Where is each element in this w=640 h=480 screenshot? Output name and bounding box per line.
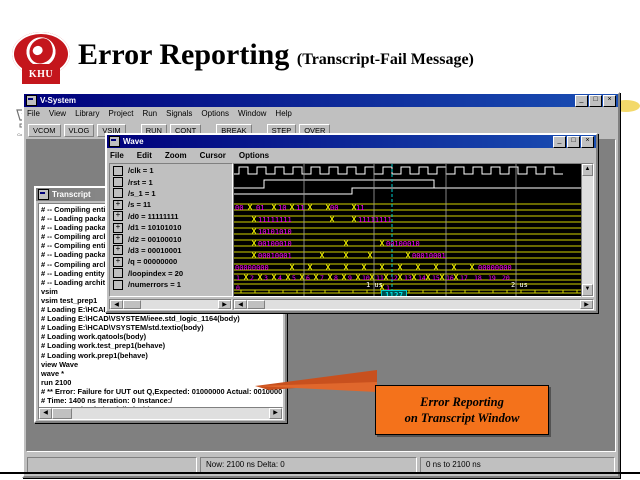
signal-pane-hscrollbar[interactable]: ◀ ▶ <box>109 299 232 310</box>
page-title: Error Reporting (Transcript-Fail Message… <box>78 38 474 72</box>
wave-maximize-button[interactable]: □ <box>567 136 580 148</box>
menu-help[interactable]: Help <box>275 109 291 118</box>
svg-text:01: 01 <box>256 204 264 212</box>
scroll-thumb[interactable] <box>52 408 72 419</box>
menu-file[interactable]: File <box>27 109 40 118</box>
transcript-line: wave * <box>41 369 280 378</box>
svg-text:14: 14 <box>418 274 426 282</box>
wave-content: /clk = 1 /rst = 1 /s_1 = 1 /s = 11 /d0 =… <box>109 163 594 297</box>
signal-label: /d2 = 00100010 <box>128 235 181 244</box>
signal-scroll-track[interactable] <box>141 300 218 309</box>
svg-text:9: 9 <box>348 274 352 282</box>
svg-text:00010001: 00010001 <box>258 252 292 260</box>
svg-text:00: 00 <box>330 204 338 212</box>
time-tick-1: 1 us <box>366 281 383 289</box>
wave-scroll-thumb[interactable] <box>247 300 265 309</box>
wave-menu-options[interactable]: Options <box>239 151 269 160</box>
slide-header: KHU Error Reporting (Transcript-Fail Mes… <box>0 30 640 92</box>
svg-text:00100010: 00100010 <box>258 240 292 248</box>
wave-hscrollbars: ◀ ▶ ◀ ▶ <box>109 299 594 310</box>
transcript-line: # Loading E:\HCAD\VSYSTEM/std.textio(bod… <box>41 323 280 332</box>
svg-text:18: 18 <box>474 274 482 282</box>
signal-label: /s_1 = 1 <box>128 189 156 198</box>
svg-text:12: 12 <box>390 274 398 282</box>
menu-view[interactable]: View <box>49 109 66 118</box>
wave-scroll-track[interactable] <box>265 300 580 309</box>
signal-row[interactable]: /d3 = 00010001 <box>110 245 232 256</box>
expand-checkbox-icon[interactable] <box>113 280 123 290</box>
signal-label: /loopindex = 20 <box>128 269 183 278</box>
wave-window: Wave _ □ × File Edit Zoom Cursor Options… <box>105 133 598 313</box>
expand-plus-icon[interactable] <box>113 257 123 267</box>
close-button[interactable]: × <box>603 95 616 107</box>
svg-text:5: 5 <box>292 274 296 282</box>
svg-text:1: 1 <box>236 274 240 282</box>
vsystem-statusbar: Now: 2100 ns Delta: 0 0 ns to 2100 ns <box>27 457 615 473</box>
menu-run[interactable]: Run <box>142 109 157 118</box>
signal-label: /d0 = 11111111 <box>128 212 178 221</box>
maximize-button[interactable]: □ <box>589 95 602 107</box>
callout-arrow-icon <box>255 364 385 404</box>
wave-vscrollbar[interactable]: ▲ ▼ <box>581 163 594 297</box>
signal-label: /s = 11 <box>128 200 151 209</box>
waveform-pane[interactable]: 00 01 10 11 00 11 11111111 11111111 <box>233 163 594 297</box>
waveform-canvas: 00 01 10 11 00 11 11111111 11111111 <box>234 164 586 296</box>
menu-options[interactable]: Options <box>201 109 229 118</box>
signal-row[interactable]: /s = 11 <box>110 199 232 210</box>
minimize-button[interactable]: _ <box>575 95 588 107</box>
signal-label: /q = 00000000 <box>128 257 177 266</box>
wave-scroll-left-icon[interactable]: ◀ <box>234 300 247 309</box>
menu-window[interactable]: Window <box>238 109 266 118</box>
signal-row[interactable]: /numerrors = 1 <box>110 279 232 290</box>
scroll-left-arrow-icon[interactable]: ◀ <box>39 408 52 419</box>
wave-menu-edit[interactable]: Edit <box>137 151 152 160</box>
scroll-up-arrow-icon[interactable]: ▲ <box>582 164 593 176</box>
transcript-line: # Loading work.prep1(behave) <box>41 351 280 360</box>
slide-bottom-rule <box>0 472 640 474</box>
wave-menu-file[interactable]: File <box>110 151 124 160</box>
signal-row[interactable]: /rst = 1 <box>110 176 232 187</box>
logo-text: KHU <box>29 69 53 80</box>
transcript-icon <box>38 189 49 200</box>
svg-text:19: 19 <box>488 274 496 282</box>
wave-close-button[interactable]: × <box>581 136 594 148</box>
scroll-right-arrow-icon[interactable]: ▶ <box>269 408 282 419</box>
signal-label: /d1 = 10101010 <box>128 223 181 232</box>
signal-row[interactable]: /s_1 = 1 <box>110 188 232 199</box>
callout-box: Error Reporting on Transcript Window <box>375 385 549 435</box>
svg-text:8: 8 <box>334 274 338 282</box>
wave-title: Wave <box>123 137 553 146</box>
svg-text:11111111: 11111111 <box>358 216 392 224</box>
signal-scroll-thumb[interactable] <box>123 300 141 309</box>
vsystem-title: V-System <box>40 96 575 105</box>
svg-text:00000000: 00000000 <box>478 264 512 272</box>
wave-pane-hscrollbar[interactable]: ◀ ▶ <box>233 299 594 310</box>
expand-checkbox-icon[interactable] <box>113 268 123 278</box>
transcript-line: view Wave <box>41 360 280 369</box>
svg-text:15: 15 <box>432 274 440 282</box>
signal-label: /clk = 1 <box>128 166 154 175</box>
svg-text:00: 00 <box>235 204 243 212</box>
wave-menubar: File Edit Zoom Cursor Options <box>107 148 596 163</box>
signal-label: /rst = 1 <box>128 178 153 187</box>
menu-library[interactable]: Library <box>75 109 99 118</box>
callout-line-1: Error Reporting <box>420 394 504 410</box>
transcript-line: # Loading E:\HCAD\VSYSTEM/ieee.std_logic… <box>41 314 280 323</box>
svg-text:3: 3 <box>264 274 268 282</box>
transcript-error-line: # ** Error: Failure for UUT out Q,Expect… <box>41 387 280 396</box>
svg-text:10: 10 <box>278 204 286 212</box>
wave-icon <box>109 136 120 147</box>
page-title-main: Error Reporting <box>78 38 289 71</box>
callout-line-2: on Transcript Window <box>405 410 520 426</box>
svg-text:16: 16 <box>446 274 454 282</box>
expand-checkbox-icon[interactable] <box>113 177 123 187</box>
khu-logo-icon: KHU <box>12 32 70 88</box>
wave-menu-cursor[interactable]: Cursor <box>200 151 226 160</box>
button-vcom[interactable]: VCOM <box>28 124 61 137</box>
svg-text:11: 11 <box>296 204 304 212</box>
wave-menu-zoom[interactable]: Zoom <box>165 151 187 160</box>
status-range: 0 ns to 2100 ns <box>420 457 615 473</box>
wave-titlebar[interactable]: Wave _ □ × <box>107 135 596 148</box>
expand-checkbox-icon[interactable] <box>113 166 123 176</box>
svg-text:4: 4 <box>278 274 282 282</box>
transcript-line: run 2100 <box>41 378 280 387</box>
wave-minimize-button[interactable]: _ <box>553 136 566 148</box>
status-now: Now: 2100 ns Delta: 0 <box>200 457 417 473</box>
app-icon <box>26 95 37 106</box>
signal-row[interactable]: /q = 00000000 <box>110 256 232 267</box>
svg-text:11: 11 <box>356 204 364 212</box>
svg-text:6: 6 <box>306 274 310 282</box>
transcript-line: # Loading work.test_prep1(behave) <box>41 341 280 350</box>
signal-scroll-left-icon[interactable]: ◀ <box>110 300 123 309</box>
time-tick-2: 2 us <box>511 281 528 289</box>
signal-row[interactable]: /loopindex = 20 <box>110 268 232 279</box>
svg-text:00100010: 00100010 <box>386 240 420 248</box>
transcript-error-time: # Time: 1400 ns Iteration: 0 Instance:/ <box>41 396 280 405</box>
signal-row[interactable]: /d1 = 10101010 <box>110 222 232 233</box>
svg-text:7: 7 <box>320 274 324 282</box>
svg-text:2: 2 <box>250 274 254 282</box>
vsystem-menubar: File View Library Project Run Signals Op… <box>24 107 618 121</box>
svg-text:0: 0 <box>236 284 240 292</box>
signal-label: /numerrors = 1 <box>128 280 181 289</box>
signal-row[interactable]: /clk = 1 <box>110 165 232 176</box>
signal-label: /d3 = 00010001 <box>128 246 181 255</box>
svg-text:00010001: 00010001 <box>412 252 446 260</box>
svg-text:13: 13 <box>404 274 412 282</box>
signal-row[interactable]: /d0 = 11111111 <box>110 211 232 222</box>
page-subtitle: (Transcript-Fail Message) <box>297 51 474 68</box>
signal-scroll-right-icon[interactable]: ▶ <box>218 300 231 309</box>
svg-text:20: 20 <box>502 274 510 282</box>
wave-scroll-right-icon[interactable]: ▶ <box>580 300 593 309</box>
scroll-down-arrow-icon[interactable]: ▼ <box>582 284 593 296</box>
svg-text:17: 17 <box>460 274 468 282</box>
svg-text:00000000: 00000000 <box>235 264 269 272</box>
cursor-value-badge[interactable]: 1127 <box>381 290 407 297</box>
scroll-track[interactable] <box>72 408 269 419</box>
svg-text:11111111: 11111111 <box>258 216 292 224</box>
signal-row[interactable]: /d2 = 00100010 <box>110 233 232 244</box>
svg-text:10101010: 10101010 <box>258 228 292 236</box>
slide-root: KHU Error Reporting (Transcript-Fail Mes… <box>0 0 640 480</box>
button-vlog[interactable]: VLOG <box>64 124 95 137</box>
menu-project[interactable]: Project <box>109 109 134 118</box>
signal-list-pane[interactable]: /clk = 1 /rst = 1 /s_1 = 1 /s = 11 /d0 =… <box>109 163 233 297</box>
transcript-hscrollbar[interactable]: ◀ ▶ <box>38 407 283 420</box>
transcript-line: # Loading work.qatools(body) <box>41 332 280 341</box>
vsystem-titlebar[interactable]: V-System _ □ × <box>24 94 618 107</box>
menu-signals[interactable]: Signals <box>166 109 192 118</box>
status-left <box>27 457 197 473</box>
